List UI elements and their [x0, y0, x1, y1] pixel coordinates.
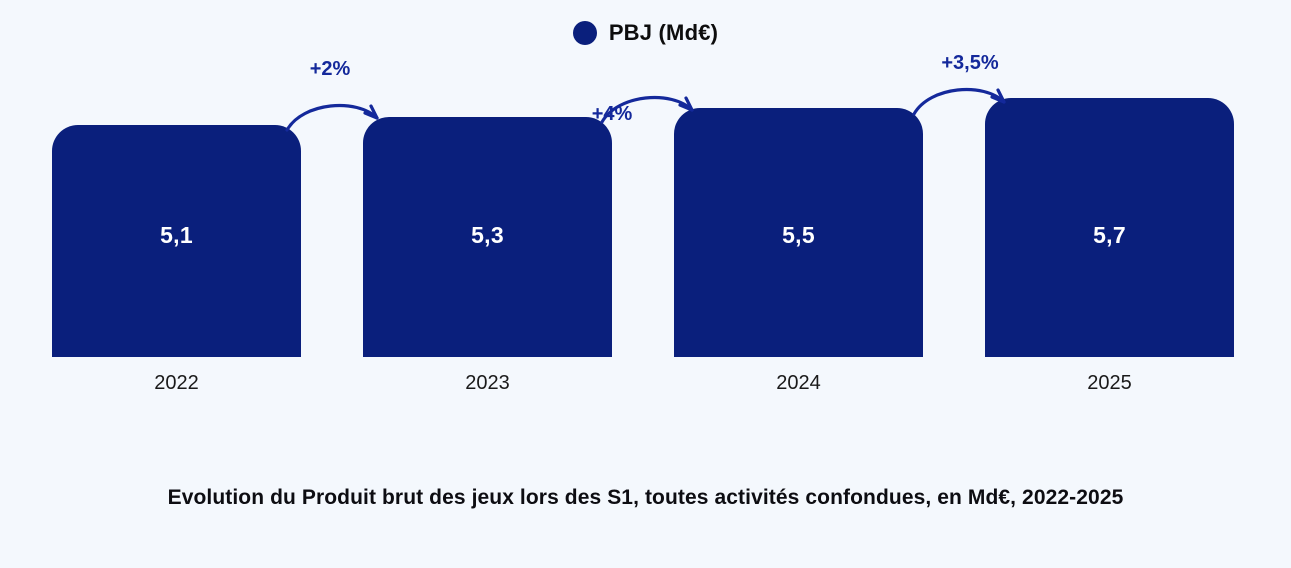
bar-2024[interactable]: 5,5 — [674, 108, 923, 357]
growth-label-2022-2023: +2% — [275, 58, 385, 81]
growth-arrow-2024-2025 — [912, 80, 1012, 118]
plot-area: 5,1 2022 5,3 2023 5,5 2024 5,7 2025 +2% … — [0, 0, 1291, 420]
bar-value-2024: 5,5 — [674, 222, 923, 249]
bar-2022[interactable]: 5,1 — [52, 125, 301, 357]
growth-label-2024-2025: +3,5% — [910, 52, 1030, 75]
chart-canvas: PBJ (Md€) 5,1 2022 5,3 2023 5,5 2024 5,7… — [0, 0, 1291, 568]
growth-arrow-2022-2023 — [285, 96, 385, 134]
chart-caption: Evolution du Produit brut des jeux lors … — [76, 482, 1216, 515]
bar-value-2022: 5,1 — [52, 222, 301, 249]
bar-value-2023: 5,3 — [363, 222, 612, 249]
x-axis-label-2025: 2025 — [985, 372, 1234, 395]
bar-2025[interactable]: 5,7 — [985, 98, 1234, 357]
x-axis-label-2022: 2022 — [52, 372, 301, 395]
x-axis-label-2024: 2024 — [674, 372, 923, 395]
x-axis-label-2023: 2023 — [363, 372, 612, 395]
growth-arrow-2023-2024 — [600, 88, 700, 126]
bar-value-2025: 5,7 — [985, 222, 1234, 249]
bar-2023[interactable]: 5,3 — [363, 117, 612, 357]
